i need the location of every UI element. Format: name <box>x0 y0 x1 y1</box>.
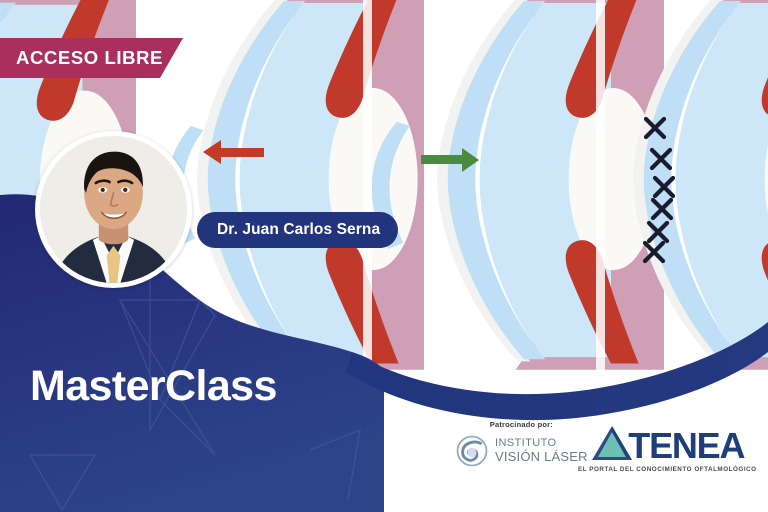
promo-banner-canvas: ACCESO LIBRE <box>0 0 768 512</box>
brand-name: TENEA <box>628 431 744 462</box>
acceso-libre-label: ACCESO LIBRE <box>16 47 163 69</box>
doctor-portrait-icon <box>40 136 187 283</box>
brand-logo[interactable]: TENEA EL PORTAL DEL CONOCIMIENTO OFTALMO… <box>578 424 757 473</box>
acceso-libre-badge[interactable]: ACCESO LIBRE <box>0 38 183 78</box>
instituto-vision-laser-swirl-icon <box>455 434 489 468</box>
brand-tagline: EL PORTAL DEL CONOCIMIENTO OFTALMOLÓGICO <box>578 466 757 473</box>
speaker-name-pill: Dr. Juan Carlos Serna <box>197 212 398 248</box>
sponsor-caption: Patrocinado por: <box>490 420 553 429</box>
navy-wave-ribbon <box>346 322 768 420</box>
sponsor-block: Patrocinado por: INSTITUTO VISIÓN LÁSER <box>455 420 588 468</box>
speaker-name-label: Dr. Juan Carlos Serna <box>217 221 380 239</box>
avatar <box>35 131 192 288</box>
sponsor-line2: VISIÓN LÁSER <box>495 450 588 464</box>
sponsor-logo[interactable]: INSTITUTO VISIÓN LÁSER <box>455 434 588 468</box>
page-title: MasterClass <box>30 362 277 411</box>
